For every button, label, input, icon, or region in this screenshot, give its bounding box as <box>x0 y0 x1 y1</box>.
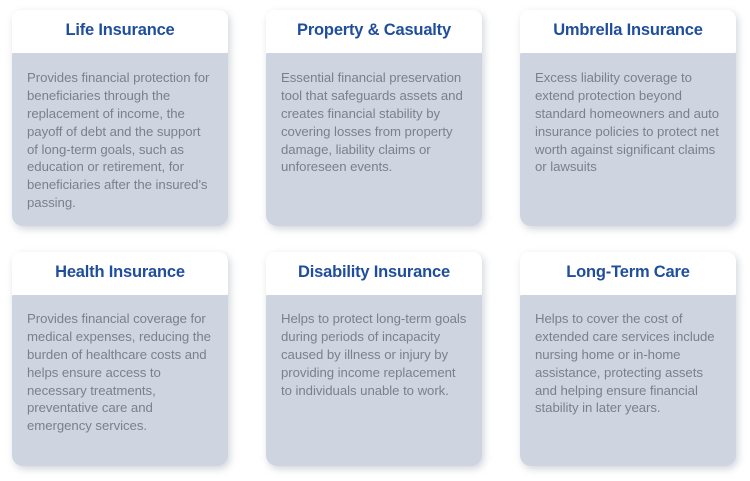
card-header-disability-insurance: Disability Insurance <box>266 252 482 295</box>
card-body-health-insurance: Provides financial coverage for medical … <box>12 295 228 466</box>
card-body-life-insurance: Provides financial protection for benefi… <box>12 53 228 226</box>
card-description-property-and-casualty: Essential financial preservation tool th… <box>281 69 468 176</box>
card-header-long-term-care: Long-Term Care <box>520 252 736 295</box>
card-body-disability-insurance: Helps to protect long-term goals during … <box>266 295 482 466</box>
card-description-umbrella-insurance: Excess liability coverage to extend prot… <box>535 69 722 176</box>
insurance-card-property-and-casualty[interactable]: Property & Casualty Essential financial … <box>266 10 482 226</box>
card-description-life-insurance: Provides financial protection for benefi… <box>27 69 214 212</box>
card-header-health-insurance: Health Insurance <box>12 252 228 295</box>
card-title-life-insurance: Life Insurance <box>65 21 174 39</box>
insurance-card-umbrella-insurance[interactable]: Umbrella Insurance Excess liability cove… <box>520 10 736 226</box>
card-description-disability-insurance: Helps to protect long-term goals during … <box>281 310 468 399</box>
card-body-long-term-care: Helps to cover the cost of extended care… <box>520 295 736 466</box>
insurance-card-health-insurance[interactable]: Health Insurance Provides financial cove… <box>12 252 228 466</box>
card-description-long-term-care: Helps to cover the cost of extended care… <box>535 310 722 417</box>
card-header-life-insurance: Life Insurance <box>12 10 228 53</box>
card-title-long-term-care: Long-Term Care <box>566 263 689 281</box>
insurance-card-grid: Life Insurance Provides financial protec… <box>0 0 750 481</box>
insurance-card-long-term-care[interactable]: Long-Term Care Helps to cover the cost o… <box>520 252 736 466</box>
card-title-disability-insurance: Disability Insurance <box>298 263 450 281</box>
card-header-umbrella-insurance: Umbrella Insurance <box>520 10 736 53</box>
insurance-card-life-insurance[interactable]: Life Insurance Provides financial protec… <box>12 10 228 226</box>
card-header-property-and-casualty: Property & Casualty <box>266 10 482 53</box>
card-body-umbrella-insurance: Excess liability coverage to extend prot… <box>520 53 736 226</box>
card-title-property-and-casualty: Property & Casualty <box>297 21 451 39</box>
card-title-health-insurance: Health Insurance <box>55 263 185 281</box>
card-title-umbrella-insurance: Umbrella Insurance <box>553 21 703 39</box>
card-description-health-insurance: Provides financial coverage for medical … <box>27 310 214 435</box>
insurance-card-disability-insurance[interactable]: Disability Insurance Helps to protect lo… <box>266 252 482 466</box>
card-body-property-and-casualty: Essential financial preservation tool th… <box>266 53 482 226</box>
